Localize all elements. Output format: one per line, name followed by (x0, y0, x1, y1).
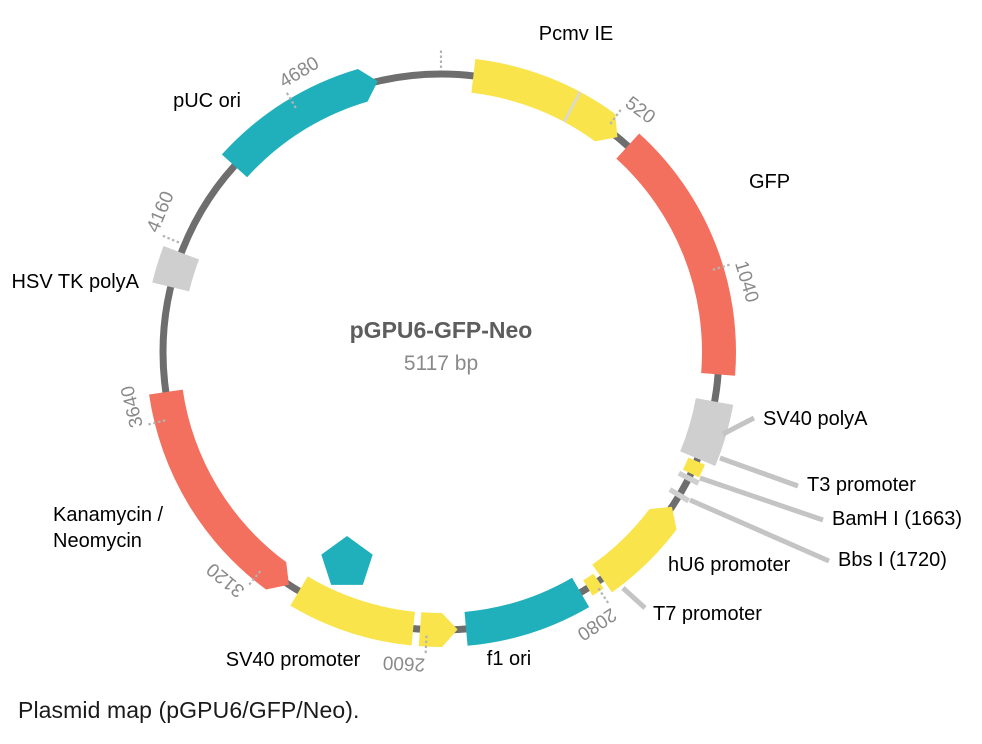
feature-label-t3-promoter: T3 promoter (807, 474, 916, 496)
feature-unnamed-arrow[interactable] (419, 612, 458, 647)
feature-marker-pentagon[interactable] (321, 536, 372, 585)
feature-gfp[interactable] (616, 134, 736, 376)
feature-label-sv40-promoter: SV40 promoter (226, 649, 361, 671)
feature-kanamycin-neomycin[interactable] (149, 390, 289, 590)
tick-label-tick-2600: 2600 (382, 651, 425, 674)
feature-hsv-tk-polya[interactable] (152, 246, 199, 291)
feature-labels: Pcmv IEGFPSV40 polyAT3 promoterBamH I (1… (12, 23, 963, 671)
feature-label-t7-promoter: T7 promoter (653, 603, 762, 625)
plasmid-size: 5117 bp (404, 352, 478, 375)
feature-label-bamhi-site: BamH I (1663) (832, 508, 962, 530)
feature-label-hsv-tk-polya: HSV TK polyA (12, 271, 140, 293)
figure-caption: Plasmid map (pGPU6/GFP/Neo). (18, 697, 360, 724)
tick-label-tick-1040: 1040 (730, 258, 762, 305)
plasmid-name: pGPU6-GFP-Neo (350, 317, 533, 343)
feature-hu6-promoter[interactable] (592, 507, 676, 593)
feature-label-hu6-promoter: hU6 promoter (668, 554, 791, 576)
feature-f1-ori[interactable] (465, 578, 590, 646)
feature-label-bbsi-site: Bbs I (1720) (838, 549, 947, 571)
feature-label-sv40-polya: SV40 polyA (763, 408, 868, 430)
leader-t7-promoter (623, 588, 645, 608)
feature-label-kanamycin-neomycin: Kanamycin /Neomycin (53, 504, 163, 552)
feature-label-puc-ori: pUC ori (173, 90, 241, 112)
feature-puc-ori[interactable] (222, 69, 378, 177)
feature-pcmv-ie[interactable] (471, 59, 617, 141)
leader-bbsi-site (690, 500, 829, 561)
plasmid-map-figure: 5201040208026003120364041604680 Pcmv IEG… (0, 0, 982, 744)
leader-t3-promoter (720, 458, 798, 486)
tickmark-tick-4160 (160, 235, 178, 243)
tick-label-tick-4160: 4160 (143, 188, 179, 235)
center-annotation: pGPU6-GFP-Neo 5117 bp (350, 317, 533, 375)
tick-label-tick-3640: 3640 (117, 384, 148, 430)
feature-label-pcmv-ie: Pcmv IE (539, 23, 613, 45)
tick-label-tick-520: 520 (621, 93, 659, 129)
feature-label-f1-ori: f1 ori (487, 648, 531, 670)
plasmid-diagram: 5201040208026003120364041604680 Pcmv IEG… (0, 0, 982, 690)
feature-sv40-promoter[interactable] (290, 576, 415, 645)
feature-label-gfp: GFP (749, 171, 790, 193)
